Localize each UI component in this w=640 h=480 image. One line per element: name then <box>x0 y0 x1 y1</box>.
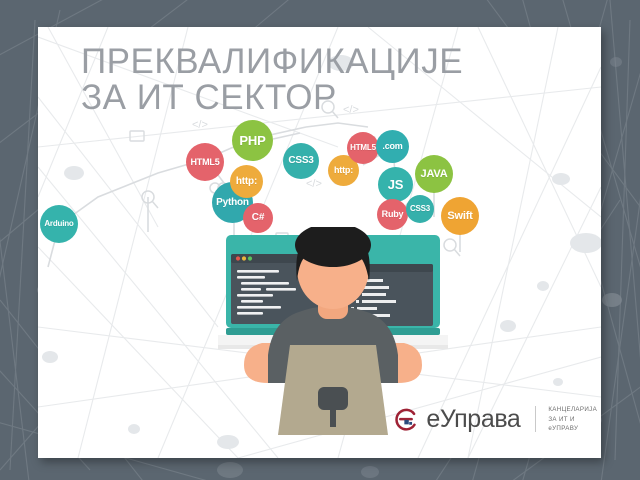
tech-tag-php: PHP <box>232 120 273 161</box>
tech-tag-arduino: Arduino <box>40 205 78 243</box>
poster-canvas: ПРЕКВАЛИФИКАЦИЈЕ ЗА ИТ СЕКТОР <box>0 0 640 480</box>
tech-tag-html5: HTML5 <box>186 143 224 181</box>
logo-subtitle-line-2: ЗА ИТ И еУПРАВУ <box>548 416 578 433</box>
tech-tag-css3: CSS3 <box>406 195 434 223</box>
tech-tag-java: JAVA <box>415 155 453 193</box>
logo-subtitle: КАНЦЕЛАРИЈА ЗА ИТ И еУПРАВУ <box>548 405 601 434</box>
euprava-logo: еУправа КАНЦЕЛАРИЈА ЗА ИТ И еУПРАВУ <box>393 405 601 434</box>
tech-tag-http: http: <box>230 165 263 198</box>
logo-subtitle-line-1: КАНЦЕЛАРИЈА <box>548 406 597 413</box>
poster-card: ПРЕКВАЛИФИКАЦИЈЕ ЗА ИТ СЕКТОР <box>38 27 601 458</box>
tech-tag-ruby: Ruby <box>377 199 408 230</box>
euprava-wordmark: еУправа <box>426 407 520 432</box>
tech-tag-html5: HTML5 <box>347 132 379 164</box>
euprava-logo-mark <box>393 406 417 433</box>
tech-tag-css3: CSS3 <box>283 143 319 179</box>
tech-tag-com: .com <box>376 130 409 163</box>
tech-tag-js: JS <box>378 167 413 202</box>
logo-divider <box>535 406 536 432</box>
